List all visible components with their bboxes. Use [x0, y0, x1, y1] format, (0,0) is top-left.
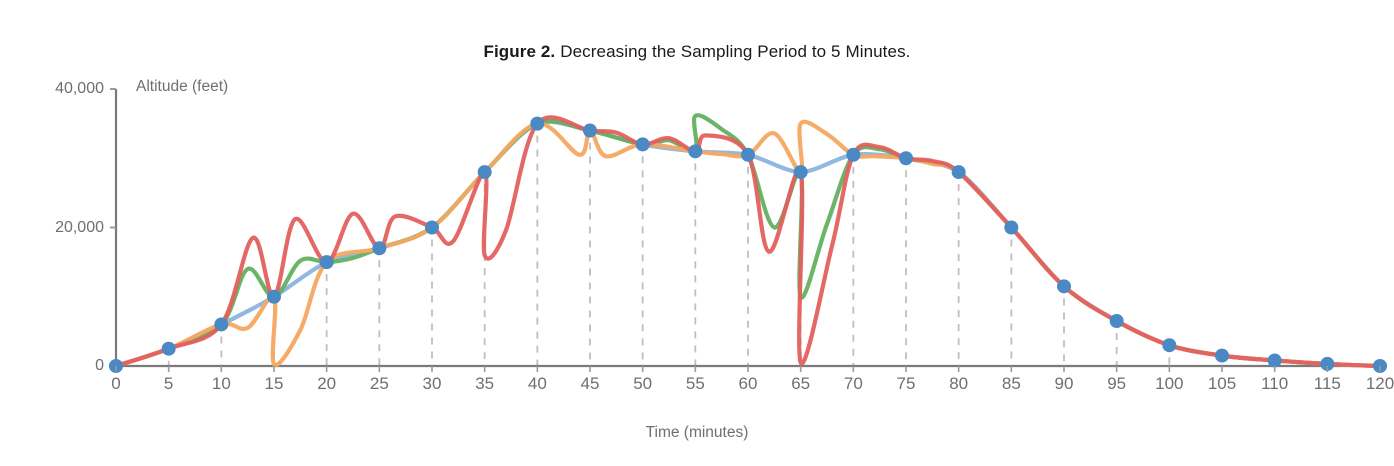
x-tick-label: 10 — [212, 374, 231, 394]
x-tick-label: 90 — [1055, 374, 1074, 394]
data-point-marker[interactable] — [162, 342, 176, 356]
data-point-marker[interactable] — [478, 165, 492, 179]
x-tick-label: 70 — [844, 374, 863, 394]
data-point-marker[interactable] — [1057, 279, 1071, 293]
x-tick-label: 15 — [265, 374, 284, 394]
data-point-marker[interactable] — [425, 221, 439, 235]
data-point-marker[interactable] — [214, 317, 228, 331]
data-point-marker[interactable] — [1110, 314, 1124, 328]
x-tick-label: 115 — [1314, 374, 1341, 394]
y-axis-title: Altitude (feet) — [136, 78, 228, 96]
x-tick-label: 110 — [1261, 374, 1288, 394]
x-tick-label: 100 — [1155, 374, 1183, 394]
x-tick-label: 65 — [791, 374, 810, 394]
x-tick-label: 85 — [1002, 374, 1021, 394]
data-point-marker[interactable] — [1215, 349, 1229, 363]
x-tick-label: 75 — [897, 374, 916, 394]
y-tick-label: 20,000 — [0, 219, 104, 237]
x-tick-label: 20 — [317, 374, 336, 394]
data-point-marker[interactable] — [1004, 221, 1018, 235]
data-point-marker[interactable] — [320, 255, 334, 269]
data-point-marker[interactable] — [583, 124, 597, 138]
x-tick-label: 95 — [1107, 374, 1126, 394]
x-tick-label: 80 — [949, 374, 968, 394]
x-axis-title: Time (minutes) — [0, 424, 1394, 442]
data-point-marker[interactable] — [267, 290, 281, 304]
x-tick-label: 0 — [111, 374, 120, 394]
data-point-marker[interactable] — [741, 148, 755, 162]
data-point-marker[interactable] — [636, 137, 650, 151]
x-tick-label: 45 — [581, 374, 600, 394]
data-point-marker[interactable] — [530, 117, 544, 131]
sample-markers-group — [109, 117, 1387, 373]
x-tick-label: 50 — [633, 374, 652, 394]
x-tick-label: 55 — [686, 374, 705, 394]
data-point-marker[interactable] — [846, 148, 860, 162]
data-point-marker[interactable] — [952, 165, 966, 179]
x-tick-label: 25 — [370, 374, 389, 394]
x-tick-label: 30 — [423, 374, 442, 394]
x-tick-label: 40 — [528, 374, 547, 394]
x-tick-label: 120 — [1366, 374, 1394, 394]
x-tick-label: 60 — [739, 374, 758, 394]
data-point-marker[interactable] — [1268, 353, 1282, 367]
data-point-marker[interactable] — [1162, 338, 1176, 352]
data-point-marker[interactable] — [688, 144, 702, 158]
chart-plot — [0, 0, 1394, 466]
figure-container: Figure 2.Decreasing the Sampling Period … — [0, 0, 1394, 466]
data-point-marker[interactable] — [794, 165, 808, 179]
data-point-marker[interactable] — [899, 151, 913, 165]
data-point-marker[interactable] — [372, 241, 386, 255]
x-tick-label: 5 — [164, 374, 173, 394]
x-tick-label: 105 — [1208, 374, 1236, 394]
x-tick-label: 35 — [475, 374, 494, 394]
y-tick-label: 0 — [0, 357, 104, 375]
y-tick-label: 40,000 — [0, 80, 104, 98]
